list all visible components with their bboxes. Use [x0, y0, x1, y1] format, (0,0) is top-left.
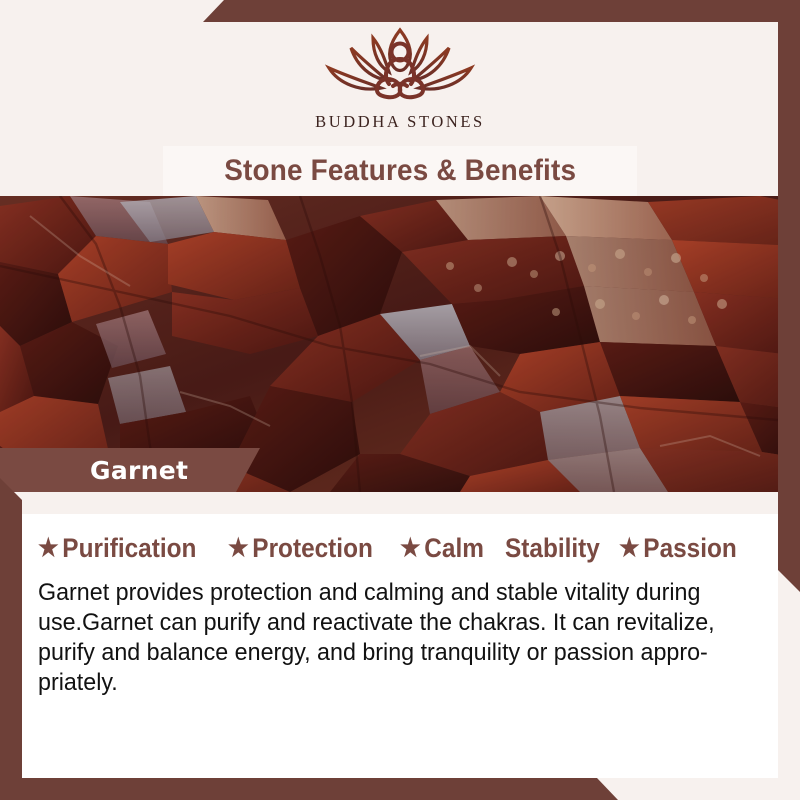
- frame-left-border: [0, 478, 22, 800]
- benefit-label: Stability: [505, 533, 600, 564]
- benefit-item-passion: ★ Passion: [619, 533, 737, 564]
- star-icon: ★: [38, 536, 59, 561]
- brand-logo: BUDDHA STONES: [0, 22, 800, 132]
- stone-photo: [0, 196, 800, 492]
- content-panel-tint: [22, 492, 778, 514]
- benefit-item-protection: ★ Protection: [228, 533, 373, 564]
- star-icon: ★: [228, 536, 249, 561]
- star-icon: ★: [400, 536, 421, 561]
- frame-bottom-border: [0, 778, 800, 800]
- garnet-crystal-cluster-illustration: [0, 196, 800, 492]
- frame-right-border: [778, 0, 800, 592]
- stone-name-text: Garnet: [90, 456, 188, 485]
- benefit-label: Protection: [252, 533, 373, 564]
- description-line-2: use.Garnet can purify and reactivate the…: [38, 608, 718, 638]
- benefit-item-stability: Stability: [505, 533, 600, 564]
- benefits-list: ★ Purification ★ Protection ★ Calm Stabi…: [38, 528, 768, 568]
- benefit-item-calm: ★ Calm: [400, 533, 484, 564]
- stone-description: Garnet provides protection and calming a…: [38, 578, 718, 698]
- benefit-label: Calm: [424, 533, 484, 564]
- page-title: Stone Features & Benefits: [224, 154, 576, 188]
- star-icon: ★: [619, 536, 640, 561]
- description-line-3: purify and balance energy, and bring tra…: [38, 638, 718, 668]
- lotus-meditation-icon: [315, 22, 485, 108]
- brand-name: BUDDHA STONES: [315, 112, 485, 132]
- benefit-label: Purification: [62, 533, 196, 564]
- stone-name-label: Garnet: [0, 448, 260, 492]
- title-band: Stone Features & Benefits: [163, 146, 637, 196]
- description-line-1: Garnet provides protection and calming a…: [38, 578, 718, 608]
- infographic-card: BUDDHA STONES Stone Features & Benefits: [0, 0, 800, 800]
- benefit-item-purification: ★ Purification: [38, 533, 196, 564]
- benefit-label: Passion: [643, 533, 737, 564]
- description-line-4: priately.: [38, 668, 718, 698]
